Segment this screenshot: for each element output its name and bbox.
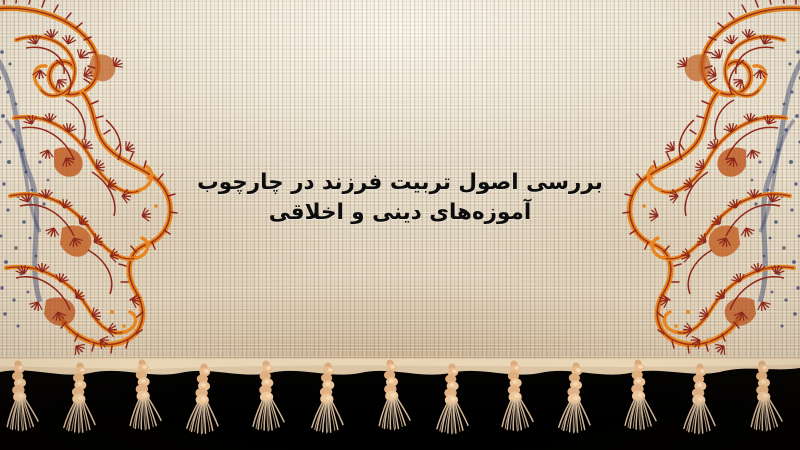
slide-title: بررسی اصول تربیت فرزند در چارچوب آموزه‌ه… [0,168,800,228]
tassel-fringe [0,362,800,450]
title-line-1: بررسی اصول تربیت فرزند در چارچوب [0,168,800,198]
tassel-row [4,362,782,435]
title-line-2: آموزه‌های دینی و اخلاقی [0,198,800,228]
slide-canvas: بررسی اصول تربیت فرزند در چارچوب آموزه‌ه… [0,0,800,450]
